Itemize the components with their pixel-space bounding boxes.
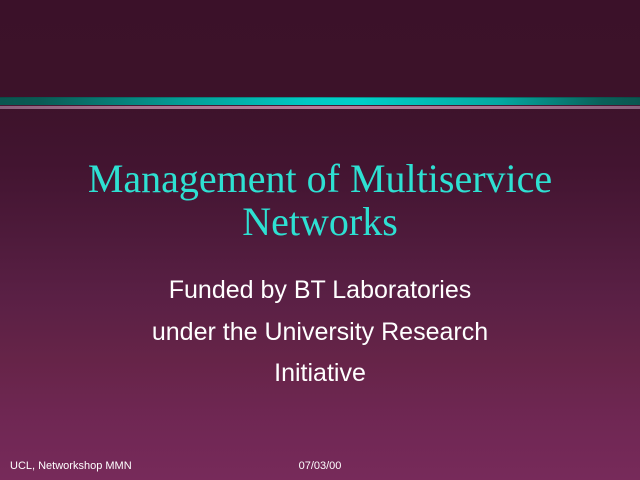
slide-title-line-1: Management of Multiservice bbox=[88, 156, 552, 201]
slide-subtitle-line-3: Initiative bbox=[40, 353, 600, 395]
divider-teal-band bbox=[0, 98, 640, 105]
slide-divider bbox=[0, 97, 640, 110]
slide-footer: UCL, Networkshop MMN 07/03/00 bbox=[0, 457, 640, 475]
slide-subtitle-line-1: Funded by BT Laboratories bbox=[40, 270, 600, 312]
footer-date-label: 07/03/00 bbox=[0, 457, 640, 475]
slide-title: Management of MultiserviceNetworks bbox=[40, 157, 600, 243]
slide-subtitle-block: Funded by BT Laboratories under the Univ… bbox=[40, 270, 600, 395]
divider-pink-line bbox=[0, 106, 640, 109]
slide-subtitle-line-2: under the University Research bbox=[40, 312, 600, 354]
presentation-slide: Management of MultiserviceNetworks Funde… bbox=[0, 0, 640, 480]
slide-title-line-2: Networks bbox=[242, 199, 398, 244]
